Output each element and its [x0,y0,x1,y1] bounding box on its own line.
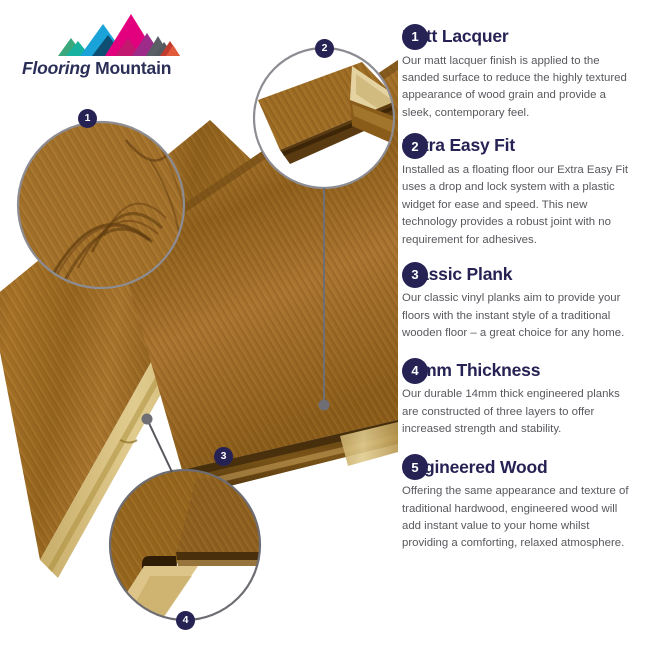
feature-4-header: 4 14mm Thickness [402,362,638,380]
feature-item-4: 4 14mm Thickness Our durable 14mm thick … [402,362,638,439]
feature-3-header: 3 Classic Plank [402,266,638,284]
product-illustration: 1 2 3 4 [0,0,398,650]
feature-2-header: 2 Extra Easy Fit [402,137,638,155]
feature-2-body: Installed as a floating floor our Extra … [402,162,638,249]
feature-list: 1 Matt Lacquer Our matt lacquer finish i… [402,28,638,568]
marker-1[interactable]: 1 [78,109,97,128]
feature-item-5: 5 Engineered Wood Offering the same appe… [402,459,638,553]
feature-item-1: 1 Matt Lacquer Our matt lacquer finish i… [402,28,638,122]
feature-3-body: Our classic vinyl planks aim to provide … [402,290,638,342]
feature-3-number-badge: 3 [402,262,428,288]
feature-1-body: Our matt lacquer finish is applied to th… [402,53,638,123]
feature-2-number-badge: 2 [402,133,428,159]
feature-1-number-badge: 1 [402,24,428,50]
product-feature-infographic: Flooring Mountain [0,0,650,650]
feature-5-header: 5 Engineered Wood [402,459,638,477]
magnifier-4 [104,470,262,622]
feature-5-body: Offering the same appearance and texture… [402,483,638,553]
marker-4[interactable]: 4 [176,611,195,630]
marker-3[interactable]: 3 [214,447,233,466]
feature-4-body: Our durable 14mm thick engineered planks… [402,386,638,438]
feature-item-2: 2 Extra Easy Fit Installed as a floating… [402,137,638,249]
feature-item-3: 3 Classic Plank Our classic vinyl planks… [402,266,638,343]
marker-2[interactable]: 2 [315,39,334,58]
feature-4-number-badge: 4 [402,358,428,384]
feature-1-header: 1 Matt Lacquer [402,28,638,46]
